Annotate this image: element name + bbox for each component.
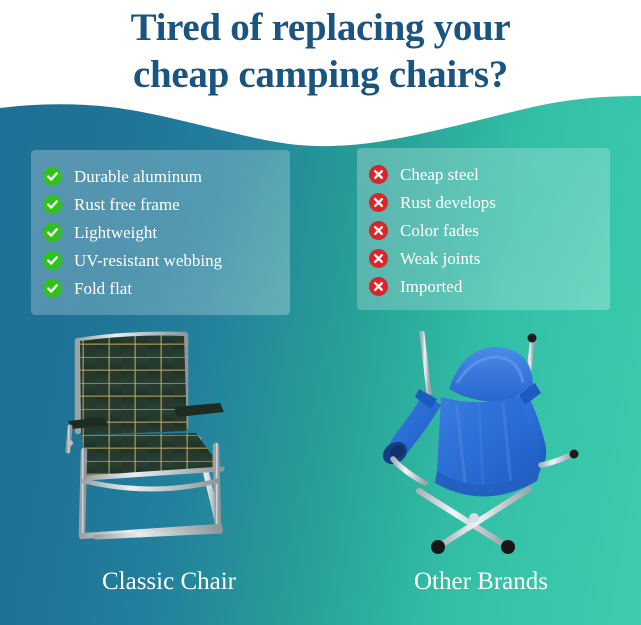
cross-circle-icon	[369, 249, 388, 268]
check-circle-icon	[43, 251, 62, 270]
cons-panel: Cheap steel Rust develops Color fades We…	[357, 148, 610, 310]
pros-panel: Durable aluminum Rust free frame Lightwe…	[31, 150, 290, 315]
cross-circle-icon	[369, 221, 388, 240]
classic-chair-caption: Classic Chair	[24, 568, 314, 596]
list-item-label: Weak joints	[400, 249, 480, 268]
list-item-label: Cheap steel	[400, 165, 479, 184]
headline-line-2: cheap camping chairs?	[0, 51, 641, 98]
cons-list: Cheap steel Rust develops Color fades We…	[369, 160, 596, 300]
check-circle-icon	[43, 195, 62, 214]
check-circle-icon	[43, 167, 62, 186]
list-item: Rust free frame	[43, 190, 276, 218]
list-item-label: Rust develops	[400, 193, 496, 212]
list-item: Fold flat	[43, 274, 276, 302]
headline-line-1: Tired of replacing your	[0, 4, 641, 51]
list-item: Weak joints	[369, 244, 596, 272]
check-circle-icon	[43, 223, 62, 242]
list-item-label: Imported	[400, 277, 462, 296]
list-item-label: Durable aluminum	[74, 167, 202, 186]
list-item: Imported	[369, 272, 596, 300]
cross-circle-icon	[369, 277, 388, 296]
cross-circle-icon	[369, 165, 388, 184]
page-title: Tired of replacing your cheap camping ch…	[0, 4, 641, 98]
comparison-infographic: Tired of replacing your cheap camping ch…	[0, 0, 641, 625]
list-item: Lightweight	[43, 218, 276, 246]
pros-list: Durable aluminum Rust free frame Lightwe…	[43, 162, 276, 302]
list-item: Color fades	[369, 216, 596, 244]
list-item-label: Fold flat	[74, 279, 132, 298]
list-item-label: Color fades	[400, 221, 479, 240]
list-item: UV-resistant webbing	[43, 246, 276, 274]
list-item: Rust develops	[369, 188, 596, 216]
check-circle-icon	[43, 279, 62, 298]
list-item: Durable aluminum	[43, 162, 276, 190]
other-brands-caption: Other Brands	[336, 568, 626, 596]
list-item-label: UV-resistant webbing	[74, 251, 222, 270]
cross-circle-icon	[369, 193, 388, 212]
classic-chair-image	[44, 331, 294, 561]
list-item-label: Rust free frame	[74, 195, 180, 214]
list-item: Cheap steel	[369, 160, 596, 188]
list-item-label: Lightweight	[74, 223, 157, 242]
other-brands-chair-image	[345, 331, 610, 561]
